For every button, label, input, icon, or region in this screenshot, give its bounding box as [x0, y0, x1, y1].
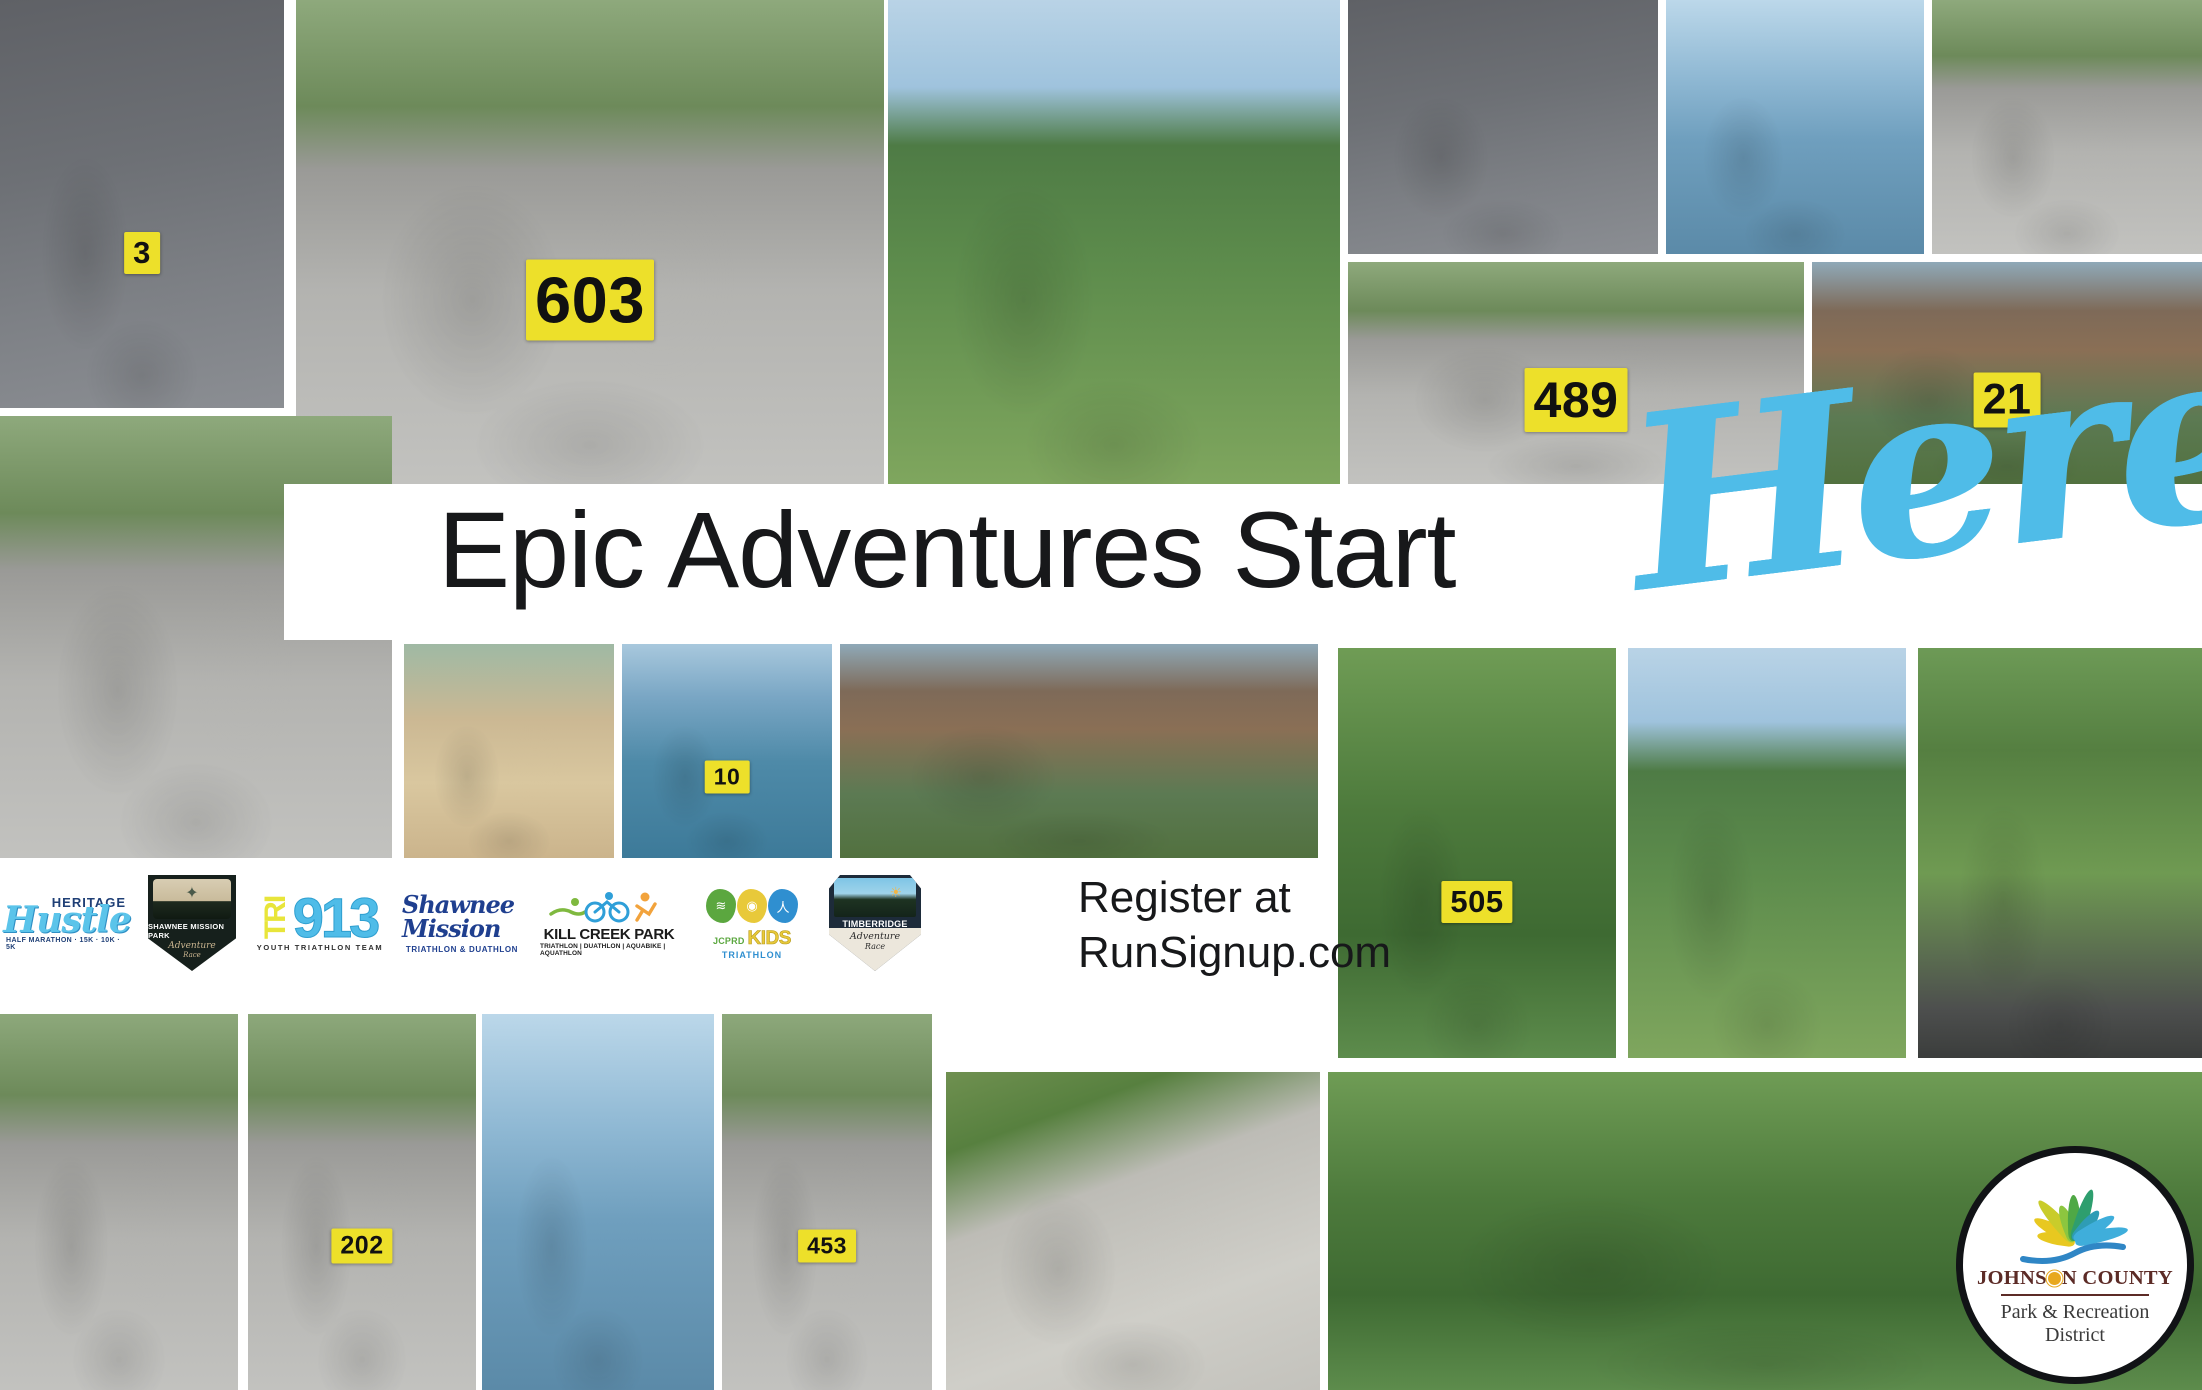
forest-compass-icon — [153, 879, 231, 919]
kids-triathlon-label: TRIATHLON — [722, 950, 782, 960]
jcprd-sub-line-2: District — [2045, 1324, 2105, 1347]
paint-splat-icons: ≋ ◉ 人 — [706, 886, 798, 926]
photo-volunteer-group-medals: 489 — [1348, 262, 1804, 484]
bike-splat-icon: ◉ — [737, 889, 767, 923]
jcprd-logo-badge: JOHNSN COUNTY Park & Recreation District — [1956, 1146, 2194, 1384]
logo-tri-913[interactable]: TRI 913 YOUTH TRIATHLON TEAM — [256, 894, 384, 953]
timberridge-title-label: TIMBERRIDGE — [842, 919, 907, 929]
sponsor-logo-strip: HERITAGE Hustle HALF MARATHON · 15K · 10… — [6, 862, 1026, 984]
timberridge-race-label: Race — [865, 942, 885, 951]
race-bib-number: 489 — [1525, 368, 1628, 432]
smp-race-label: Race — [183, 951, 201, 959]
photo-two-women-podium-medals — [1918, 648, 2202, 1058]
photo-image — [722, 1012, 932, 1390]
jcprd-title-b: N COUNTY — [2062, 1267, 2173, 1289]
photo-handcycle-athlete-zoot — [0, 1012, 238, 1390]
photo-image — [1666, 0, 1924, 254]
photo-kids-swim-caps-huddle — [1628, 648, 1906, 1058]
photo-image — [1628, 648, 1906, 1058]
photo-image — [0, 1012, 238, 1390]
tri-913-mark: TRI 913 — [263, 894, 377, 942]
swim-splat-icon: ≋ — [706, 889, 736, 923]
photo-kids-medals-podium: 3 — [0, 0, 284, 408]
photo-image — [248, 1012, 476, 1390]
photo-runner-505-cheering: 505 — [1338, 648, 1616, 1058]
sun-fan-river-icon — [2011, 1189, 2139, 1263]
photo-image — [1338, 648, 1616, 1058]
logo-shawnee-mission-triathlon[interactable]: Shawnee Mission TRIATHLON & DUATHLON — [402, 893, 522, 954]
register-callout: Register at RunSignup.com — [1078, 870, 1391, 981]
photo-group-swim-start-pavilion — [840, 644, 1318, 858]
race-bib-number: 603 — [526, 260, 654, 341]
photo-volunteer-swim-exit — [482, 1012, 714, 1390]
photo-race-start-pnc-arch: 21 — [1812, 262, 2202, 484]
register-line-1: Register at — [1078, 870, 1391, 925]
photo-two-girls-medals-drinks: 10 — [622, 644, 832, 858]
river-icon — [2019, 1239, 2131, 1265]
photo-image — [888, 0, 1340, 484]
jcprd-kids-wordmark: JCPRD KIDS — [713, 928, 791, 950]
photo-image — [296, 0, 884, 484]
jcprd-title-pre: J — [1977, 1267, 1988, 1289]
logo-heritage-hustle[interactable]: HERITAGE Hustle HALF MARATHON · 15K · 10… — [6, 895, 128, 951]
race-bib-number: 202 — [331, 1229, 392, 1264]
jcprd-title-a: OHNS — [1988, 1267, 2047, 1289]
headline-backdrop — [284, 484, 2202, 640]
jcprd-label: JCPRD — [713, 936, 745, 946]
heritage-hustle-script-label: Hustle — [3, 904, 131, 936]
smp-title-label: SHAWNEE MISSION PARK — [148, 922, 236, 940]
photo-adventure-is-out-there — [1666, 0, 1924, 254]
race-bib-number: 505 — [1441, 881, 1512, 923]
badge-lower-panel: Adventure Race — [829, 928, 921, 971]
photo-image — [0, 0, 284, 408]
race-bib-number: 21 — [1974, 372, 2041, 427]
photo-image — [1932, 0, 2202, 254]
photo-heritage-park-runners: 202 — [248, 1012, 476, 1390]
photo-image — [946, 1072, 1320, 1390]
register-line-2[interactable]: RunSignup.com — [1078, 925, 1391, 980]
jcprd-sub-line-1: Park & Recreation — [2001, 1301, 2150, 1324]
race-bib-number: 453 — [798, 1230, 856, 1263]
shield-icon: SHAWNEE MISSION PARK Adventure Race — [148, 875, 236, 971]
logo-kill-creek-park[interactable]: KILL CREEK PARK TRIATHLON | DUATHLON | A… — [540, 890, 678, 957]
logo-jcprd-kids-triathlon[interactable]: ≋ ◉ 人 JCPRD KIDS TRIATHLON — [696, 886, 808, 960]
photo-image — [840, 644, 1318, 858]
poster-canvas: 36034892110505202453 Epic Adventures Sta… — [0, 0, 2202, 1390]
smt-sub-label: TRIATHLON & DUATHLON — [406, 945, 518, 954]
photo-youth-beach-transition — [404, 644, 614, 858]
photo-cyclist-woman-603: 603 — [296, 0, 884, 484]
swim-bike-run-icon — [549, 890, 669, 924]
photo-adventure-race-map-reading — [946, 1072, 1320, 1390]
shield-icon: TIMBERRIDGE Adventure Race — [829, 875, 921, 971]
logo-shawnee-mission-park-adventure-race[interactable]: SHAWNEE MISSION PARK Adventure Race — [146, 875, 238, 971]
tri-913-sub-label: YOUTH TRIATHLON TEAM — [257, 943, 383, 952]
photo-image — [482, 1012, 714, 1390]
photo-kids-running-start — [1932, 0, 2202, 254]
race-bib-number: 3 — [124, 232, 160, 274]
photo-tri-camp-girls-laying — [1348, 0, 1658, 254]
kill-creek-title-label: KILL CREEK PARK — [544, 926, 675, 943]
photo-image — [622, 644, 832, 858]
divider — [2001, 1294, 2149, 1296]
jcprd-title: JOHNSN COUNTY — [1977, 1267, 2173, 1290]
tri-word-label: TRI — [253, 903, 299, 933]
photo-cyclist-thumbs-up-453: 453 — [722, 1012, 932, 1390]
kids-label: KIDS — [748, 928, 791, 950]
photo-image — [404, 644, 614, 858]
photo-image — [1348, 0, 1658, 254]
kill-creek-sub-label: TRIATHLON | DUATHLON | AQUABIKE | AQUATH… — [540, 943, 678, 957]
smp-adventure-label: Adventure — [168, 941, 216, 951]
heritage-hustle-distances-label: HALF MARATHON · 15K · 10K · 5K — [6, 937, 128, 951]
logo-timberridge-adventure-race[interactable]: TIMBERRIDGE Adventure Race — [826, 875, 924, 971]
timberridge-adventure-label: Adventure — [850, 931, 900, 942]
smt-script-label: Shawnee Mission — [402, 893, 522, 941]
run-splat-icon: 人 — [768, 889, 798, 923]
mountain-sunset-icon — [834, 878, 916, 917]
sun-dot-icon — [2048, 1272, 2061, 1285]
photo-three-finishers-medals — [888, 0, 1340, 484]
race-bib-number: 10 — [705, 760, 750, 793]
tri-number-label: 913 — [293, 894, 377, 942]
photo-image — [1918, 648, 2202, 1058]
